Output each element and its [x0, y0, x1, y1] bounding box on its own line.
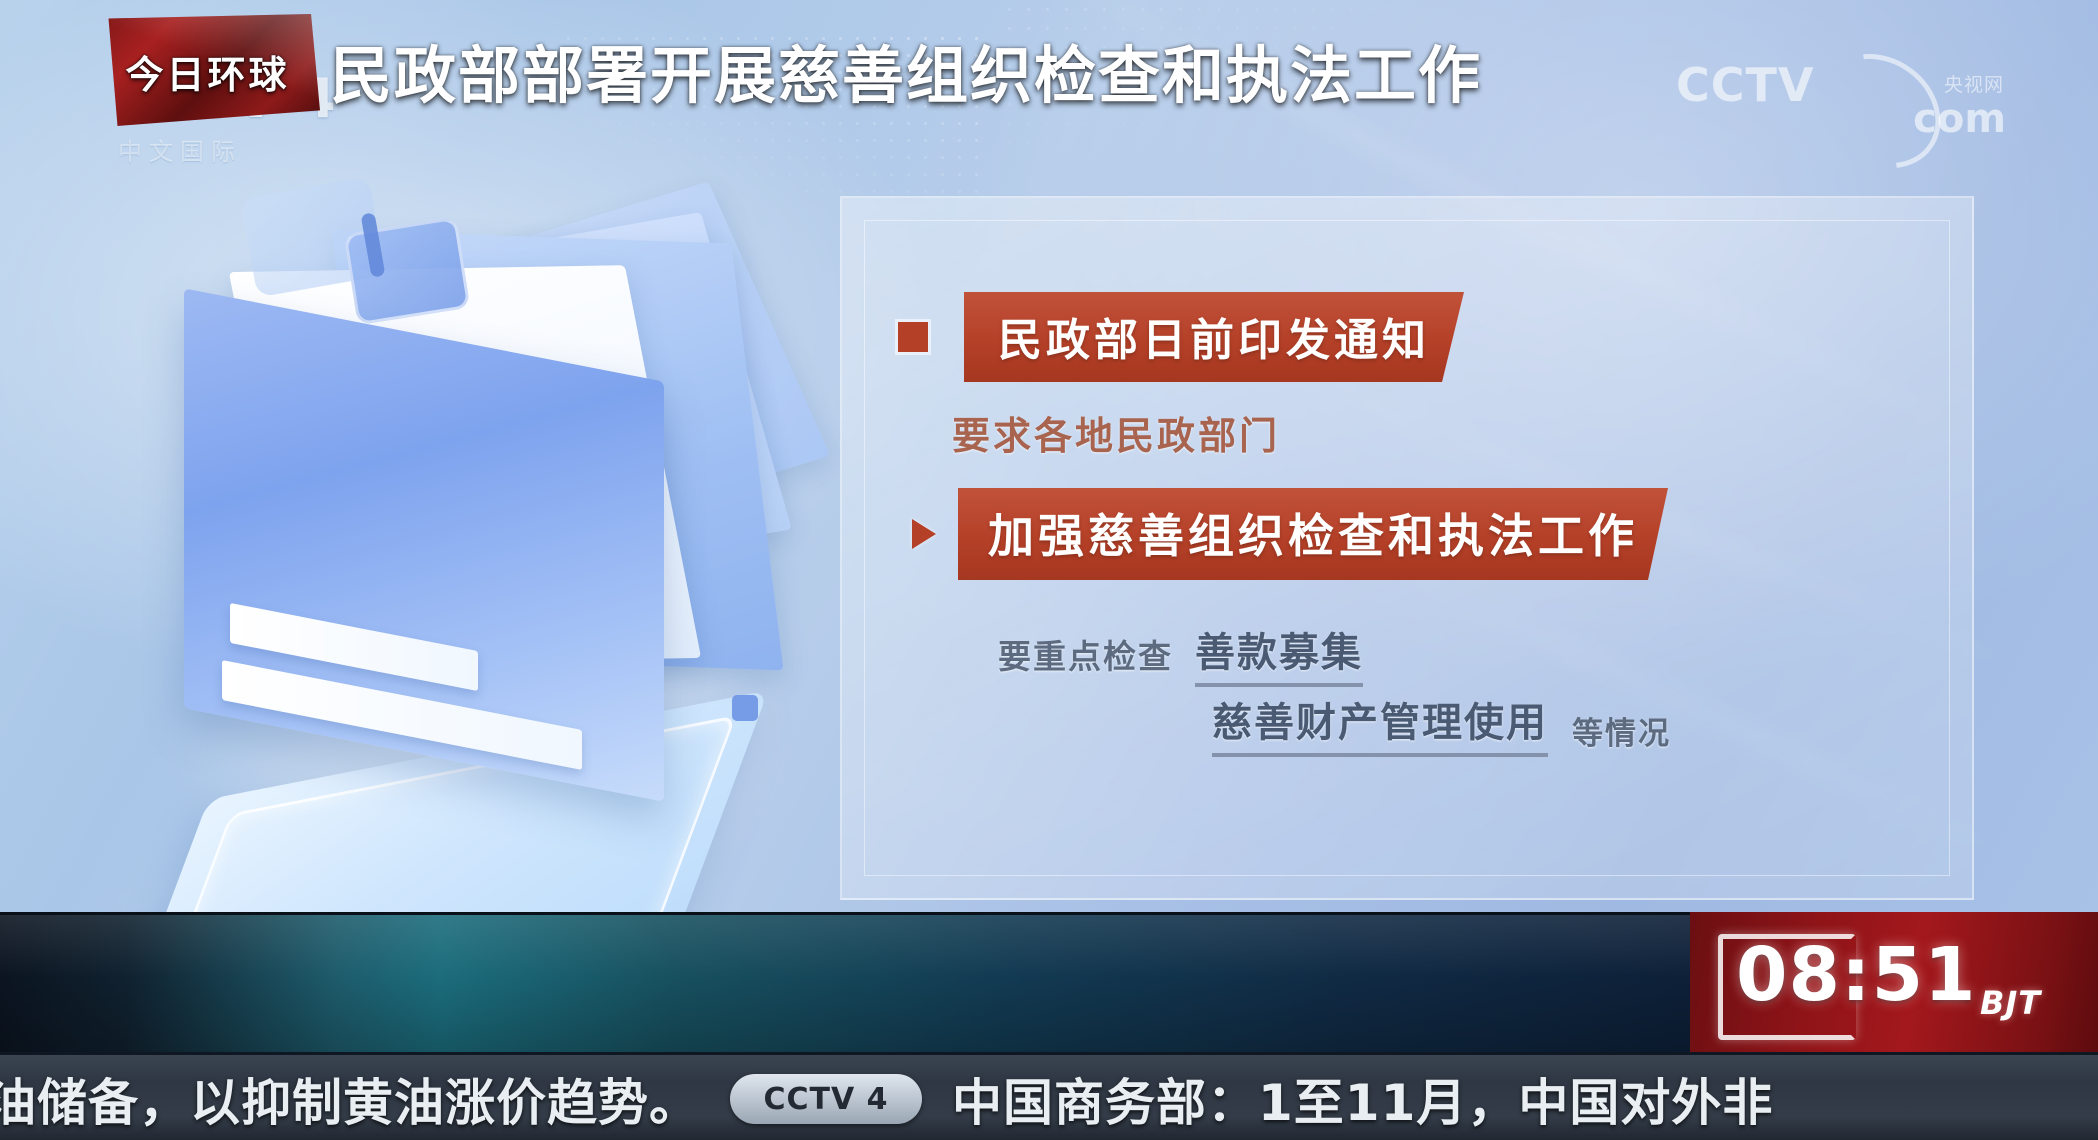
- callout-chip-1: 民政部日前印发通知: [964, 292, 1464, 382]
- clock-time: 08:51: [1736, 938, 1977, 1012]
- channel-subtitle: 中文国际: [118, 132, 368, 167]
- watermark-cn-label: 央视网: [1944, 70, 2004, 97]
- detail-row-1: 要重点检查 善款募集: [998, 620, 1363, 687]
- headline-row-2: 要求各地民政部门: [952, 405, 1280, 460]
- detail-row-2: 慈善财产管理使用 等情况: [1212, 690, 1671, 757]
- news-ticker: 油储备，以抑制黄油涨价趋势。 CCTV 4 中国商务部：1至11月，中国对外非: [0, 1052, 2098, 1140]
- detail-item-2: 慈善财产管理使用: [1212, 690, 1548, 757]
- callout-chip-2: 加强慈善组织检查和执法工作: [958, 488, 1668, 580]
- document-corner-accent: [732, 695, 758, 721]
- ticker-text-right: 中国商务部：1至11月，中国对外非: [952, 1063, 1773, 1135]
- detail-label: 要重点检查: [998, 630, 1173, 678]
- triangle-bullet-icon: [912, 519, 936, 549]
- subheading-text: 要求各地民政部门: [952, 405, 1280, 460]
- documents-3d-illustration: [120, 195, 840, 895]
- headline-row-1: 民政部日前印发通知: [898, 292, 1464, 382]
- square-bullet-icon: [898, 322, 928, 352]
- headline-row-3: 加强慈善组织检查和执法工作: [912, 488, 1668, 580]
- ticker-text-left: 油储备，以抑制黄油涨价趋势。: [0, 1063, 700, 1135]
- broadcast-screen: CCTV 4 中文国际 CCTV 央视网 com 民政部日前印发通知: [0, 0, 2098, 1140]
- news-headline: 民政部部署开展慈善组织检查和执法工作: [330, 26, 1482, 114]
- cctv4-badge: CCTV 4: [730, 1074, 922, 1124]
- program-logo: 今日环球: [95, 14, 320, 126]
- website-watermark: CCTV 央视网 com: [1676, 62, 2006, 148]
- detail-item-1: 善款募集: [1195, 620, 1363, 687]
- clock-timezone: BJT: [1980, 984, 2041, 1022]
- watermark-domain: com: [1913, 96, 2006, 142]
- document-tab: [344, 217, 471, 326]
- detail-suffix: 等情况: [1572, 708, 1671, 757]
- program-logo-label: 今日环球: [105, 44, 310, 99]
- clock-widget: 08:51 BJT: [1690, 912, 2098, 1052]
